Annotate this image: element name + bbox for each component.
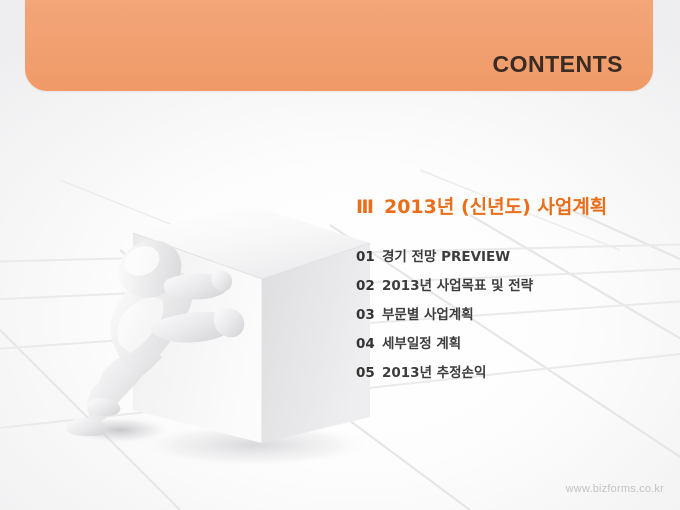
contents-section: Ⅲ2013년 (신년도) 사업계획 01 경기 전망 PREVIEW 02 20… bbox=[356, 192, 666, 390]
section-heading: Ⅲ2013년 (신년도) 사업계획 bbox=[356, 192, 666, 219]
toc-label: 2013년 사업목표 및 전략 bbox=[382, 274, 533, 294]
toc-label: 부문별 사업계획 bbox=[382, 303, 474, 323]
figure-pushing-cube-illustration bbox=[40, 195, 390, 485]
toc-item-01[interactable]: 01 경기 전망 PREVIEW bbox=[356, 245, 666, 265]
toc-number: 05 bbox=[356, 365, 382, 381]
toc-item-04[interactable]: 04 세부일정 계획 bbox=[356, 332, 666, 352]
toc-item-02[interactable]: 02 2013년 사업목표 및 전략 bbox=[356, 274, 666, 294]
contents-banner: CONTENTS bbox=[25, 0, 653, 91]
section-heading-text: 2013년 (신년도) 사업계획 bbox=[384, 196, 607, 218]
toc-item-03[interactable]: 03 부문별 사업계획 bbox=[356, 303, 666, 323]
site-watermark: www.bizforms.co.kr bbox=[566, 483, 664, 495]
toc-label: 경기 전망 PREVIEW bbox=[382, 245, 510, 265]
page-title: CONTENTS bbox=[493, 51, 624, 78]
toc-number: 01 bbox=[356, 249, 382, 265]
toc-number: 04 bbox=[356, 336, 382, 352]
toc-label: 세부일정 계획 bbox=[382, 332, 461, 352]
table-of-contents-list: 01 경기 전망 PREVIEW 02 2013년 사업목표 및 전략 03 부… bbox=[356, 245, 666, 381]
section-numeral: Ⅲ bbox=[356, 196, 375, 218]
toc-label: 2013년 추정손익 bbox=[382, 361, 486, 381]
toc-number: 02 bbox=[356, 278, 382, 294]
slide-canvas: CONTENTS bbox=[0, 0, 680, 510]
toc-number: 03 bbox=[356, 307, 382, 323]
toc-item-05[interactable]: 05 2013년 추정손익 bbox=[356, 361, 666, 381]
